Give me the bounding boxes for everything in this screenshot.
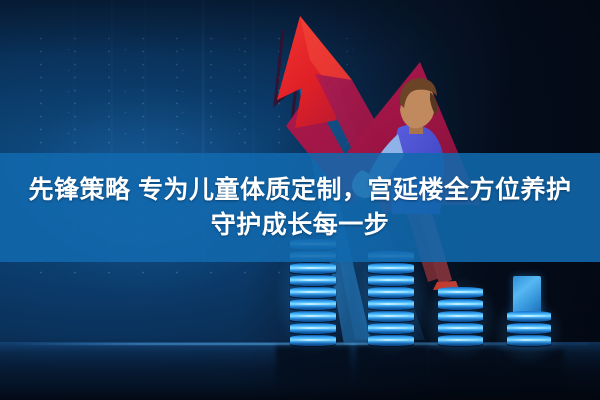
coin [438,287,483,298]
coin [290,263,336,274]
coin [507,323,551,334]
coin-stack-2 [368,250,414,346]
coin [290,299,336,310]
coin [368,311,414,322]
coin [290,287,336,298]
coin [368,323,414,334]
coin [368,299,414,310]
headline-text-group: 先锋策略 专为儿童体质定制，宫延楼全方位养护 守护成长每一步 [0,153,600,262]
coin [290,275,336,286]
headline-line-2: 守护成长每一步 [211,211,390,240]
coin [438,299,483,310]
headline-line-1: 先锋策略 专为儿童体质定制，宫延楼全方位养护 [29,176,572,205]
promotional-banner: 先锋策略 专为儿童体质定制，宫延楼全方位养护 守护成长每一步 [0,0,600,400]
floor-vignette [0,338,600,400]
coin [438,311,483,322]
coin [368,263,414,274]
coin [290,323,336,334]
coin [290,311,336,322]
coin [507,311,551,322]
coin-stack-3 [438,286,483,346]
coin [368,275,414,286]
coin [438,323,483,334]
coin [368,287,414,298]
